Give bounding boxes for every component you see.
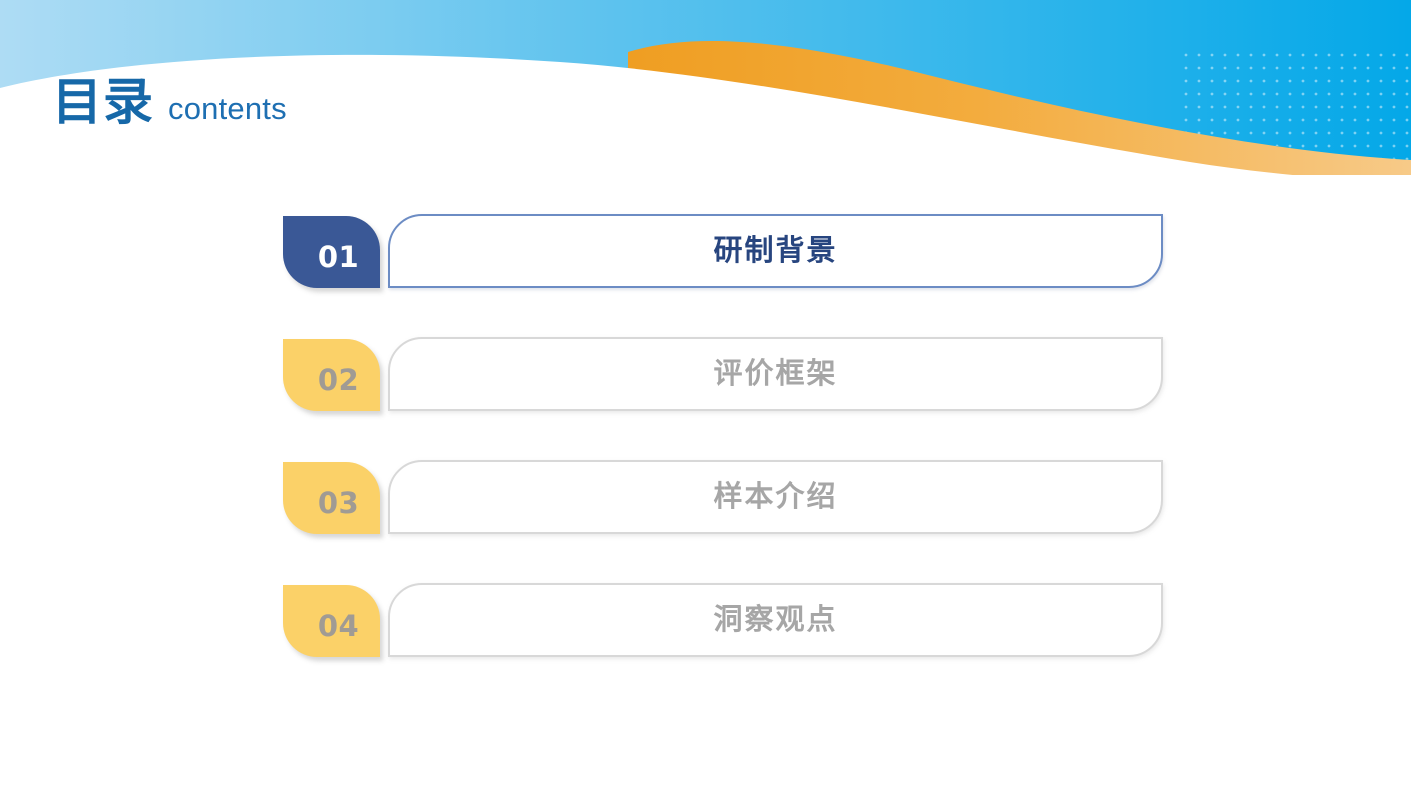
toc-item-04[interactable]: 04 洞察观点 (283, 585, 1163, 657)
toc-label-01: 研制背景 (713, 236, 837, 265)
toc-number-badge-02[interactable]: 02 (283, 339, 380, 411)
toc-item-02[interactable]: 02 评价框架 (283, 339, 1163, 411)
toc-number-04: 04 (318, 612, 359, 641)
toc-pill-04[interactable]: 洞察观点 (388, 583, 1163, 657)
slide-canvas: 目录 contents 01 研制背景 02 评价框架 03 样本 (0, 0, 1411, 793)
page-title: 目录 contents (52, 77, 287, 127)
toc-number-01: 01 (318, 243, 359, 272)
toc-number-02: 02 (318, 366, 359, 395)
page-title-en: contents (168, 93, 287, 124)
toc-label-02: 评价框架 (713, 359, 837, 388)
toc-label-03: 样本介绍 (713, 482, 837, 511)
toc-list: 01 研制背景 02 评价框架 03 样本介绍 04 (283, 216, 1163, 657)
toc-number-badge-04[interactable]: 04 (283, 585, 380, 657)
toc-pill-01[interactable]: 研制背景 (388, 214, 1163, 288)
toc-item-01[interactable]: 01 研制背景 (283, 216, 1163, 288)
page-title-cn: 目录 (52, 77, 154, 127)
toc-label-04: 洞察观点 (713, 605, 837, 634)
toc-number-badge-01[interactable]: 01 (283, 216, 380, 288)
toc-pill-02[interactable]: 评价框架 (388, 337, 1163, 411)
toc-number-03: 03 (318, 489, 359, 518)
toc-number-badge-03[interactable]: 03 (283, 462, 380, 534)
toc-item-03[interactable]: 03 样本介绍 (283, 462, 1163, 534)
toc-pill-03[interactable]: 样本介绍 (388, 460, 1163, 534)
